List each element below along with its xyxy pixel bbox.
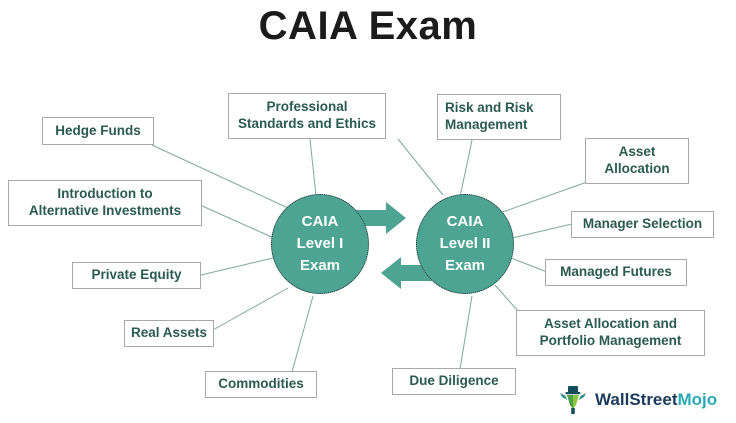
label-real-assets[interactable]: Real Assets [124,320,214,347]
label-professional-standards-and-ethics[interactable]: Professional Standards and Ethics [228,93,386,139]
logo-text-part2: Mojo [678,390,718,409]
label-real-assets-line-1: Real Assets [131,325,207,342]
label-risk-line-1: Risk and Risk [445,100,534,117]
label-manager-selection-line-1: Manager Selection [583,216,702,233]
label-asset-alloc-pm-line-1: Asset Allocation and [544,316,677,333]
label-intro-alt-line-2: Alternative Investments [29,203,181,220]
label-hedge-funds-line-1: Hedge Funds [55,123,141,140]
label-commodities[interactable]: Commodities [205,371,317,398]
node-level2-line-1: CAIA [447,211,484,233]
label-asset-alloc-line-1: Asset [619,144,656,161]
label-commodities-line-1: Commodities [218,376,304,393]
label-introduction-to-alternative-investments[interactable]: Introduction to Alternative Investments [8,180,202,226]
label-prof-std-line-1: Professional [266,99,347,116]
label-risk-and-risk-management[interactable]: Risk and Risk Management [437,94,561,140]
label-hedge-funds[interactable]: Hedge Funds [42,117,154,145]
label-risk-line-2: Management [445,117,528,134]
node-level2-line-3: Exam [445,255,485,277]
node-level1-line-2: Level I [297,233,344,255]
label-managed-futures-line-1: Managed Futures [560,264,672,281]
label-asset-allocation[interactable]: Asset Allocation [585,138,689,184]
label-asset-allocation-and-portfolio-management[interactable]: Asset Allocation and Portfolio Managemen… [516,310,705,356]
label-private-equity[interactable]: Private Equity [72,262,201,289]
wallstreetmojo-logo-text: WallStreetMojo [595,390,717,410]
label-asset-alloc-pm-line-2: Portfolio Management [540,333,682,350]
logo-text-part1: WallStreet [595,390,678,409]
node-level1-line-3: Exam [300,255,340,277]
label-private-equity-line-1: Private Equity [91,267,181,284]
label-managed-futures[interactable]: Managed Futures [545,259,687,286]
label-asset-alloc-line-2: Allocation [604,161,669,178]
node-caia-level-2[interactable]: CAIA Level II Exam [416,194,514,294]
label-due-diligence[interactable]: Due Diligence [392,368,516,395]
wallstreetmojo-bull-icon [556,383,590,417]
label-due-diligence-line-1: Due Diligence [409,373,498,390]
wallstreetmojo-logo[interactable]: WallStreetMojo [556,380,732,420]
label-prof-std-line-2: Standards and Ethics [238,116,376,133]
node-level2-line-2: Level II [440,233,491,255]
node-level1-line-1: CAIA [302,211,339,233]
node-caia-level-1[interactable]: CAIA Level I Exam [271,194,369,294]
label-manager-selection[interactable]: Manager Selection [571,211,714,238]
diagram-canvas: CAIA Exam CAIA Level I Exam CAIA Level I… [0,0,736,423]
label-intro-alt-line-1: Introduction to [57,186,152,203]
